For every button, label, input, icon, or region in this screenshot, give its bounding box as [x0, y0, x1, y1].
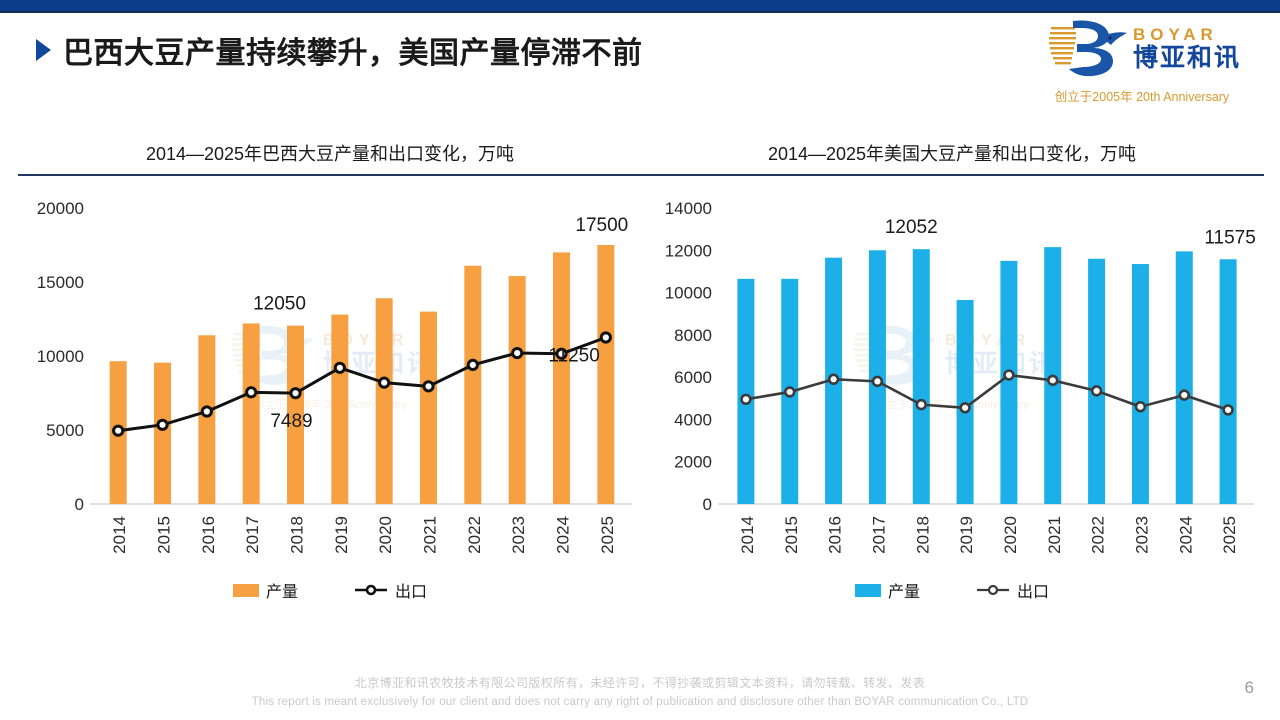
svg-text:2017: 2017	[243, 516, 262, 554]
logo-tagline: 创立于2005年 20th Anniversary	[1055, 86, 1229, 105]
plot-area-usa: BOYAR 博亚和讯 创立于2005年 20th Anniversary 020…	[640, 182, 1264, 582]
svg-text:14000: 14000	[665, 199, 712, 218]
logo-brand-cn: 博亚和讯	[1133, 46, 1241, 71]
svg-text:2015: 2015	[155, 516, 174, 554]
logo-brand-en: BOYAR	[1133, 26, 1218, 43]
svg-text:11250: 11250	[548, 345, 599, 366]
legend-swatch-line-icon	[976, 583, 1010, 597]
svg-text:10000: 10000	[665, 283, 712, 302]
chart-panel-brazil: 2014—2025年巴西大豆产量和出口变化，万吨	[18, 140, 642, 610]
svg-text:2015: 2015	[782, 516, 801, 554]
slide-root: 巴西大豆产量持续攀升，美国产量停滞不前 BOYAR	[0, 0, 1280, 720]
chart-title-divider-brazil	[18, 174, 642, 176]
svg-text:2024: 2024	[1176, 516, 1195, 554]
svg-text:12000: 12000	[665, 241, 712, 260]
svg-text:2000: 2000	[674, 452, 712, 471]
svg-text:0: 0	[75, 495, 84, 514]
legend-item-export-brazil[interactable]: 出口	[354, 578, 427, 602]
slide-title-row: 巴西大豆产量持续攀升，美国产量停滞不前	[36, 28, 643, 72]
plot-area-brazil: BOYAR 博亚和讯 创立于2005年 20th Anniversary 050…	[18, 182, 642, 582]
chart-title-brazil: 2014—2025年巴西大豆产量和出口变化，万吨	[18, 140, 642, 174]
footer: 北京博亚和讯农牧技术有限公司版权所有，未经许可，不得抄袭或剪辑文本资料，请勿转载…	[0, 674, 1280, 708]
svg-text:2014: 2014	[738, 516, 757, 554]
legend-item-production-brazil[interactable]: 产量	[233, 578, 298, 602]
logo-wordmark: BOYAR 博亚和讯	[1133, 26, 1241, 71]
svg-text:2018: 2018	[913, 516, 932, 554]
svg-text:20000: 20000	[37, 199, 84, 218]
chart-canvas-usa: 0200040006000800010000120001400020142015…	[640, 182, 1264, 582]
svg-text:2023: 2023	[509, 516, 528, 554]
svg-text:12052: 12052	[885, 217, 938, 238]
page-number: 6	[1245, 678, 1254, 698]
footer-copyright-cn: 北京博亚和讯农牧技术有限公司版权所有，未经许可，不得抄袭或剪辑文本资料，请勿转载…	[0, 674, 1280, 691]
svg-text:2016: 2016	[826, 516, 845, 554]
page-title: 巴西大豆产量持续攀升，美国产量停滞不前	[63, 28, 643, 72]
legend-label-export: 出口	[1017, 578, 1049, 602]
svg-text:8000: 8000	[674, 325, 712, 344]
svg-text:2017: 2017	[869, 516, 888, 554]
svg-text:2020: 2020	[376, 516, 395, 554]
svg-text:2014: 2014	[110, 516, 129, 554]
svg-text:2016: 2016	[199, 516, 218, 554]
svg-text:2018: 2018	[288, 516, 307, 554]
legend-label-production: 产量	[266, 578, 298, 602]
svg-text:2022: 2022	[1089, 516, 1108, 554]
legend-label-production: 产量	[888, 578, 920, 602]
chart-title-usa: 2014—2025年美国大豆产量和出口变化，万吨	[640, 140, 1264, 174]
chart-legend-usa: 产量 出口	[640, 578, 1264, 602]
brand-logo: BOYAR 博亚和讯 创立于2005年 20th Anniversary	[1026, 14, 1258, 106]
chart-canvas-brazil: 0500010000150002000020142015201620172018…	[18, 182, 642, 582]
svg-text:15000: 15000	[37, 273, 84, 292]
svg-text:2025: 2025	[598, 516, 617, 554]
svg-text:2023: 2023	[1132, 516, 1151, 554]
chart-legend-brazil: 产量 出口	[18, 578, 642, 602]
svg-text:2020: 2020	[1001, 516, 1020, 554]
svg-text:2021: 2021	[1045, 516, 1064, 554]
svg-text:2022: 2022	[465, 516, 484, 554]
boyar-bird-logo-icon	[1043, 15, 1129, 81]
svg-text:4000: 4000	[674, 410, 712, 429]
triangle-bullet-icon	[36, 39, 51, 61]
svg-text:6000: 6000	[674, 368, 712, 387]
svg-text:2024: 2024	[554, 516, 573, 554]
chart-title-divider-usa	[640, 174, 1264, 176]
footer-copyright-en: This report is meant exclusively for our…	[0, 696, 1280, 708]
svg-text:2025: 2025	[1220, 516, 1239, 554]
top-accent-bar-shadow	[0, 11, 1280, 13]
legend-item-export-usa[interactable]: 出口	[976, 578, 1049, 602]
top-accent-bar	[0, 0, 1280, 11]
svg-text:2019: 2019	[332, 516, 351, 554]
legend-item-production-usa[interactable]: 产量	[855, 578, 920, 602]
legend-swatch-line-icon	[354, 583, 388, 597]
svg-text:7489: 7489	[270, 411, 312, 432]
svg-text:11575: 11575	[1204, 227, 1255, 248]
svg-text:17500: 17500	[575, 215, 628, 236]
svg-text:12050: 12050	[253, 293, 306, 314]
chart-panel-usa: 2014—2025年美国大豆产量和出口变化，万吨	[640, 140, 1264, 610]
legend-swatch-bar-icon	[855, 584, 881, 597]
legend-swatch-bar-icon	[233, 584, 259, 597]
logo-main-row: BOYAR 博亚和讯	[1043, 15, 1241, 81]
svg-text:0: 0	[703, 495, 712, 514]
svg-text:5000: 5000	[46, 421, 84, 440]
svg-text:2019: 2019	[957, 516, 976, 554]
svg-text:10000: 10000	[37, 347, 84, 366]
legend-label-export: 出口	[395, 578, 427, 602]
svg-text:2021: 2021	[421, 516, 440, 554]
